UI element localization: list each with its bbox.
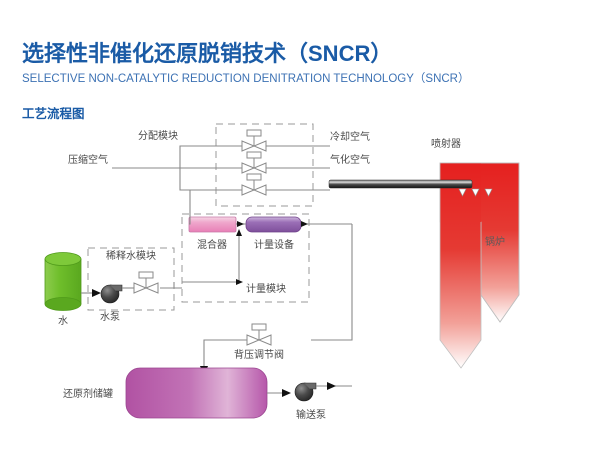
flow-arrow-mixer-out: [237, 221, 244, 227]
flow-arrow-riser-up: [236, 229, 242, 236]
air-valves: [242, 130, 266, 195]
mixer-label: 混合器: [197, 238, 227, 251]
flow-arrow-transfer-pump-in: [282, 389, 291, 397]
metering-equipment-label: 计量设备: [254, 238, 294, 251]
water-tank-group: 水: [45, 253, 81, 328]
slide-page: 选择性非催化还原脱销技术（SNCR） SELECTIVE NON-CATALYT…: [0, 0, 600, 450]
valve-icon-cooling-air[interactable]: [242, 130, 266, 151]
water-pump-group: 水泵: [81, 285, 122, 323]
process-flow-diagram: 锅炉 喷射器 分配模块 压缩空气 冷却空气 气化空气: [0, 0, 600, 450]
back-pressure-valve-label: 背压调节阀: [234, 348, 284, 361]
valve-icon-back-pressure[interactable]: [247, 324, 271, 345]
distribution-module-label: 分配模块: [138, 130, 178, 142]
reductant-tank-group: 还原剂储罐: [63, 368, 267, 418]
air-piping: [112, 146, 330, 190]
flow-arrow-water-pump-in: [92, 289, 101, 297]
valve-icon-dilution-water[interactable]: [134, 272, 158, 293]
boiler-label: 锅炉: [485, 236, 505, 248]
metering-equipment-vessel: [246, 217, 301, 232]
transfer-pump-label: 输送泵: [296, 408, 326, 421]
boiler-group: 锅炉: [440, 163, 519, 368]
dilution-water-module-label: 稀释水模块: [106, 249, 156, 262]
valve-icon-reagent-air[interactable]: [242, 174, 266, 195]
metering-equipment-group: 计量设备: [246, 217, 301, 251]
gasification-air-label: 气化空气: [330, 153, 370, 166]
valve-icon-gasification-air[interactable]: [242, 152, 266, 173]
metering-module-label: 计量模块: [246, 282, 286, 295]
injector-lance: [329, 180, 472, 188]
metering-piping: [182, 190, 352, 282]
water-tank-bottom: [45, 298, 81, 311]
water-tank-top: [45, 253, 81, 266]
injector-label: 喷射器: [431, 138, 461, 150]
flow-arrow-metering-out: [301, 221, 308, 227]
water-label: 水: [58, 315, 68, 327]
reductant-tank-body: [126, 368, 267, 418]
transfer-pump-group: 输送泵: [267, 382, 352, 421]
cooling-air-label: 冷却空气: [330, 130, 370, 143]
compressed-air-label: 压缩空气: [68, 153, 108, 166]
reductant-tank-label: 还原剂储罐: [63, 387, 113, 400]
mixer-vessel: [189, 217, 236, 232]
flow-arrow-transfer-pump-out: [327, 382, 336, 390]
water-pump-label: 水泵: [100, 311, 120, 323]
mixer-group: 混合器: [189, 217, 236, 251]
